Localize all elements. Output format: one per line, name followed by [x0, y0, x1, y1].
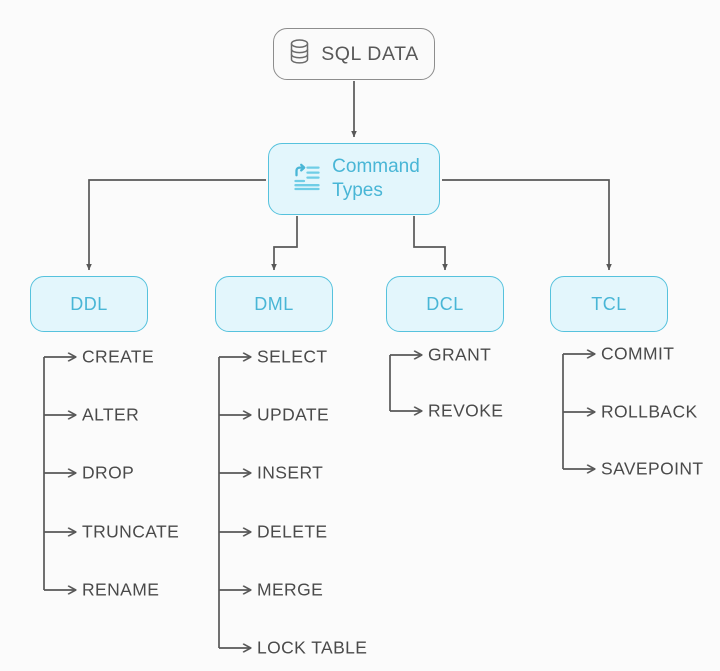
command-ddl-create[interactable]: CREATE: [82, 347, 154, 368]
edge-hub-to-dcl: [414, 216, 445, 270]
hub-node-command-types[interactable]: Command Types: [268, 143, 440, 215]
edge-hub-to-ddl: [89, 180, 266, 270]
category-label-dcl: DCL: [426, 294, 464, 315]
database-icon: [289, 39, 310, 69]
category-label-ddl: DDL: [70, 294, 108, 315]
edge-hub-to-dml: [274, 216, 297, 270]
category-label-tcl: TCL: [591, 294, 627, 315]
category-node-dml[interactable]: DML: [215, 276, 333, 332]
command-dml-lock-table[interactable]: LOCK TABLE: [257, 638, 367, 659]
category-node-ddl[interactable]: DDL: [30, 276, 148, 332]
command-ddl-rename[interactable]: RENAME: [82, 580, 159, 601]
category-node-tcl[interactable]: TCL: [550, 276, 668, 332]
connector-layer: [0, 0, 720, 671]
command-dml-insert[interactable]: INSERT: [257, 463, 323, 484]
command-tcl-commit[interactable]: COMMIT: [601, 344, 674, 365]
command-dcl-revoke[interactable]: REVOKE: [428, 401, 503, 422]
edge-hub-to-tcl: [442, 180, 609, 270]
reorder-list-icon: [292, 162, 322, 197]
sql-command-types-diagram: SQL DATA Command Types DDL: [0, 0, 720, 671]
command-dml-delete[interactable]: DELETE: [257, 522, 327, 543]
category-node-dcl[interactable]: DCL: [386, 276, 504, 332]
command-tcl-savepoint[interactable]: SAVEPOINT: [601, 459, 703, 480]
command-ddl-alter[interactable]: ALTER: [82, 405, 139, 426]
root-node-label: SQL DATA: [321, 43, 419, 66]
command-dml-select[interactable]: SELECT: [257, 347, 327, 368]
command-ddl-drop[interactable]: DROP: [82, 463, 134, 484]
command-tcl-rollback[interactable]: ROLLBACK: [601, 402, 698, 423]
command-ddl-truncate[interactable]: TRUNCATE: [82, 522, 179, 543]
command-dcl-grant[interactable]: GRANT: [428, 345, 491, 366]
command-dml-update[interactable]: UPDATE: [257, 405, 329, 426]
command-dml-merge[interactable]: MERGE: [257, 580, 323, 601]
category-label-dml: DML: [254, 294, 294, 315]
root-node-sql-data[interactable]: SQL DATA: [273, 28, 435, 80]
hub-node-label: Command Types: [332, 155, 420, 203]
